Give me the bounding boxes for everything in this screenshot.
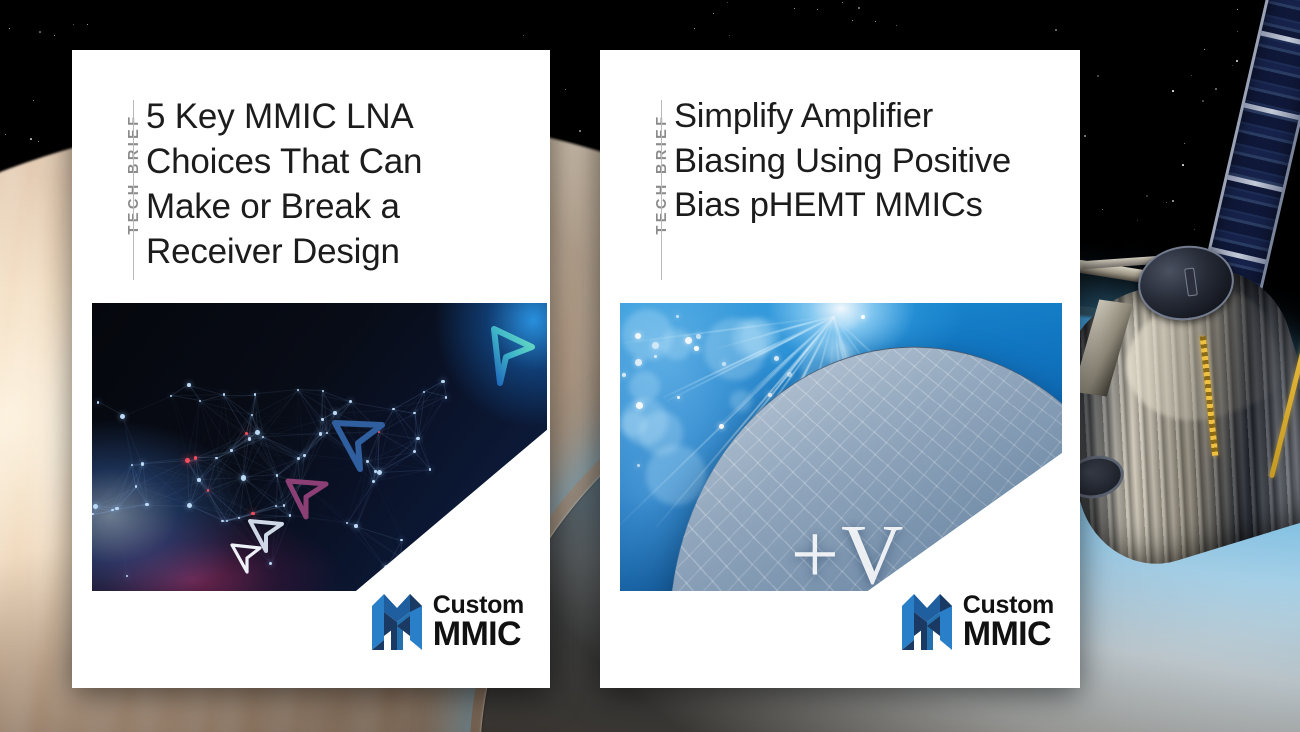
star: [875, 21, 876, 22]
kicker-divider: [661, 100, 662, 280]
star: [842, 2, 843, 3]
network-node: [694, 346, 699, 351]
network-node: [652, 342, 659, 349]
logo-line-custom: Custom: [433, 593, 524, 617]
card-header: TECH BRIEF Simplify Amplifier Biasing Us…: [600, 50, 1080, 228]
network-node: [861, 315, 865, 319]
star: [896, 25, 897, 26]
logo-line-mmic: MMIC: [433, 618, 524, 651]
network-node: [676, 315, 679, 318]
network-node: [696, 334, 701, 339]
star: [858, 7, 860, 9]
title-line: Bias pHEMT MMICs: [674, 183, 1054, 228]
network-node: [677, 396, 680, 399]
network-constellation-graphic: [92, 303, 547, 591]
star: [9, 28, 10, 29]
star: [713, 13, 714, 14]
cursor-arrow-medium: [335, 423, 382, 469]
logo-line-mmic: MMIC: [963, 618, 1054, 651]
star: [817, 9, 818, 10]
star: [729, 35, 730, 36]
custom-mmic-logo-icon: [370, 592, 424, 652]
network-node: [685, 337, 692, 344]
card-header: TECH BRIEF 5 Key MMIC LNA Choices That C…: [72, 50, 550, 275]
logo-wordmark: Custom MMIC: [963, 593, 1054, 651]
logo-line-custom: Custom: [963, 593, 1054, 617]
kicker-divider: [133, 100, 134, 280]
brand-logo[interactable]: Custom MMIC: [370, 592, 524, 652]
kicker-wrap: TECH BRIEF: [94, 94, 140, 275]
tech-brief-card-left[interactable]: TECH BRIEF 5 Key MMIC LNA Choices That C…: [72, 50, 550, 688]
custom-mmic-logo-icon: [900, 592, 954, 652]
star: [852, 20, 853, 21]
tech-brief-card-right[interactable]: TECH BRIEF Simplify Amplifier Biasing Us…: [600, 50, 1080, 688]
network-node: [768, 393, 772, 397]
cursor-arrow-large: [494, 329, 532, 383]
star: [87, 24, 88, 25]
network-node: [722, 362, 726, 366]
light-bokeh: [622, 309, 673, 360]
star: [38, 141, 39, 142]
light-bokeh: [621, 411, 647, 437]
network-node: [637, 464, 640, 467]
star: [1055, 29, 1057, 31]
network-node: [399, 555, 401, 557]
cursor-arrow-small: [288, 481, 326, 517]
network-node: [635, 359, 642, 366]
star: [30, 138, 32, 140]
network-node: [636, 402, 643, 409]
solar-panel-seam: [1227, 175, 1283, 192]
title-line: Simplify Amplifier: [674, 94, 1054, 139]
kicker-wrap: TECH BRIEF: [622, 94, 668, 228]
satellite: [1070, 0, 1300, 560]
star: [39, 31, 41, 33]
network-node: [622, 373, 626, 377]
solar-panel-seam: [1244, 103, 1300, 120]
title-line: Choices That Can: [146, 139, 524, 184]
page-title: Simplify Amplifier Biasing Using Positiv…: [668, 94, 1054, 228]
logo-wordmark: Custom MMIC: [433, 593, 524, 651]
hero-image-right: +V: [620, 303, 1062, 591]
star: [33, 100, 34, 101]
kicker-label: TECH BRIEF: [654, 98, 670, 250]
kicker-label: TECH BRIEF: [126, 98, 142, 250]
hero-image-left: [92, 303, 547, 591]
title-line: Biasing Using Positive: [674, 139, 1054, 184]
star: [727, 2, 728, 3]
title-line: Make or Break a: [146, 184, 524, 229]
title-line: 5 Key MMIC LNA: [146, 94, 524, 139]
star: [523, 35, 524, 36]
star: [73, 24, 74, 25]
solar-panel-seam: [1260, 31, 1300, 48]
arrow-cursors: [92, 303, 547, 591]
star: [5, 134, 6, 135]
star: [579, 130, 581, 132]
network-node: [774, 356, 779, 361]
star: [565, 89, 566, 90]
star: [694, 28, 695, 29]
network-node: [654, 355, 657, 358]
brand-logo[interactable]: Custom MMIC: [900, 592, 1054, 652]
network-node: [719, 424, 724, 429]
cursor-arrow-tiny: [232, 545, 260, 572]
star: [794, 8, 795, 9]
title-line: Receiver Design: [146, 229, 524, 274]
wafer-network-graphic: +V: [620, 303, 1062, 591]
page-title: 5 Key MMIC LNA Choices That Can Make or …: [140, 94, 524, 275]
